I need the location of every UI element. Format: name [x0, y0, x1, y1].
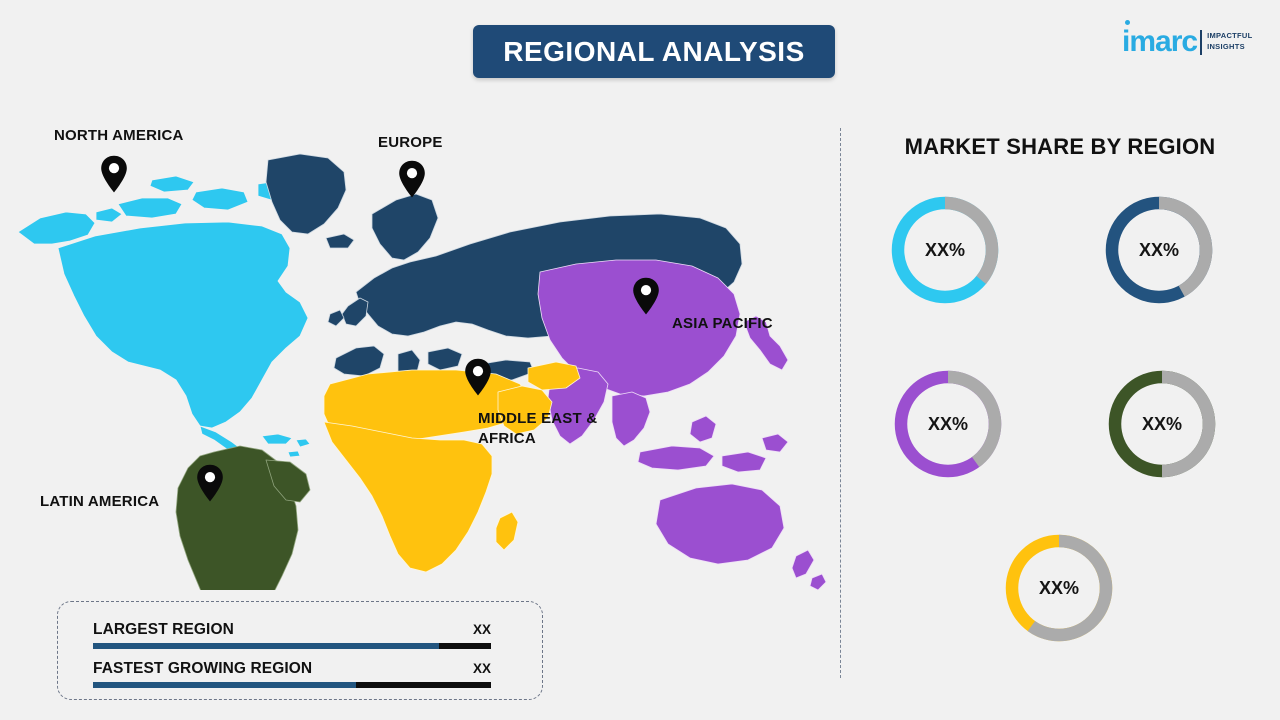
- map-region-middle-east-africa[interactable]: [324, 362, 580, 572]
- map-label-europe: EUROPE: [378, 133, 443, 153]
- donut-value-label: XX%: [1001, 530, 1117, 646]
- location-pin-icon: [100, 155, 128, 193]
- map-shape: [326, 234, 354, 248]
- legend-progress-track: [93, 682, 491, 688]
- map-label-asia-pacific: ASIA PACIFIC: [672, 314, 773, 334]
- map-shape: [328, 310, 344, 326]
- map-region-north-america[interactable]: [18, 176, 310, 480]
- map-shape: [324, 422, 492, 572]
- donut-value-label: XX%: [890, 366, 1006, 482]
- map-shape: [58, 222, 308, 428]
- map-shape: [612, 392, 650, 446]
- map-shape: [372, 194, 438, 260]
- map-shape: [656, 484, 784, 564]
- legend-progress-track: [93, 643, 491, 649]
- logo-tagline-line2: INSIGHTS: [1207, 42, 1252, 53]
- map-shape: [266, 154, 346, 234]
- map-shape: [288, 451, 300, 457]
- map-shape: [192, 188, 248, 210]
- map-shape: [334, 346, 384, 376]
- map-shape: [18, 212, 95, 244]
- donut-chart-latin-america[interactable]: XX%: [1104, 366, 1220, 482]
- location-pin-icon: [464, 358, 492, 396]
- section-divider: [840, 128, 841, 678]
- infographic-canvas: REGIONAL ANALYSIS imarc IMPACTFUL INSIGH…: [0, 0, 1280, 720]
- location-pin-icon: [398, 160, 426, 198]
- logo-tagline-line1: IMPACTFUL: [1207, 31, 1252, 42]
- map-shape: [150, 176, 194, 192]
- logo-word-text: imarc: [1122, 25, 1197, 58]
- map-shape: [96, 208, 122, 222]
- legend-row-fastest-growing-region: FASTEST GROWING REGION XX: [93, 660, 491, 688]
- map-shape: [428, 348, 462, 370]
- map-shape: [118, 198, 182, 218]
- donut-chart-north-america[interactable]: XX%: [887, 192, 1003, 308]
- market-share-title: MARKET SHARE BY REGION: [890, 134, 1230, 160]
- map-pin-middle-east-africa[interactable]: [464, 358, 492, 396]
- location-pin-icon: [632, 277, 660, 315]
- legend-value: XX: [473, 661, 491, 676]
- legend-progress-fill: [93, 643, 439, 649]
- page-title: REGIONAL ANALYSIS: [503, 36, 805, 68]
- map-shape: [762, 434, 788, 452]
- donut-value-label: XX%: [887, 192, 1003, 308]
- logo-wordmark: imarc: [1122, 27, 1197, 57]
- world-map-svg: [0, 140, 830, 590]
- map-shape: [296, 439, 310, 447]
- map-pin-asia-pacific[interactable]: [632, 277, 660, 315]
- map-pin-north-america[interactable]: [100, 155, 128, 193]
- map-legend-box: LARGEST REGION XX FASTEST GROWING REGION…: [57, 601, 543, 700]
- legend-label: LARGEST REGION: [93, 621, 234, 639]
- logo-tagline: IMPACTFUL INSIGHTS: [1207, 31, 1252, 53]
- map-shape: [342, 298, 368, 326]
- map-label-north-america: NORTH AMERICA: [54, 126, 184, 146]
- location-pin-icon: [196, 464, 224, 502]
- legend-value: XX: [473, 622, 491, 637]
- donut-chart-europe[interactable]: XX%: [1101, 192, 1217, 308]
- map-shape: [638, 446, 714, 470]
- map-label-latin-america: LATIN AMERICA: [40, 492, 159, 512]
- donut-value-label: XX%: [1104, 366, 1220, 482]
- map-label-middle-east-africa: MIDDLE EAST & AFRICA: [478, 409, 597, 450]
- map-shape: [722, 452, 766, 472]
- map-shape: [496, 512, 518, 550]
- logo-dot-icon: [1125, 20, 1130, 25]
- legend-progress-fill: [93, 682, 356, 688]
- map-pin-latin-america[interactable]: [196, 464, 224, 502]
- page-title-banner: REGIONAL ANALYSIS: [473, 25, 835, 78]
- map-shape: [810, 574, 826, 590]
- donut-value-label: XX%: [1101, 192, 1217, 308]
- map-shape: [262, 434, 292, 444]
- map-shape: [792, 550, 814, 578]
- logo-divider: [1200, 30, 1202, 55]
- legend-label: FASTEST GROWING REGION: [93, 660, 312, 678]
- legend-row-largest-region: LARGEST REGION XX: [93, 621, 491, 649]
- donut-chart-asia-pacific[interactable]: XX%: [890, 366, 1006, 482]
- donut-chart-middle-east-africa[interactable]: XX%: [1001, 530, 1117, 646]
- map-pin-europe[interactable]: [398, 160, 426, 198]
- imarc-logo: imarc IMPACTFUL INSIGHTS: [1122, 22, 1262, 62]
- world-map: [0, 140, 830, 590]
- map-shape: [690, 416, 716, 442]
